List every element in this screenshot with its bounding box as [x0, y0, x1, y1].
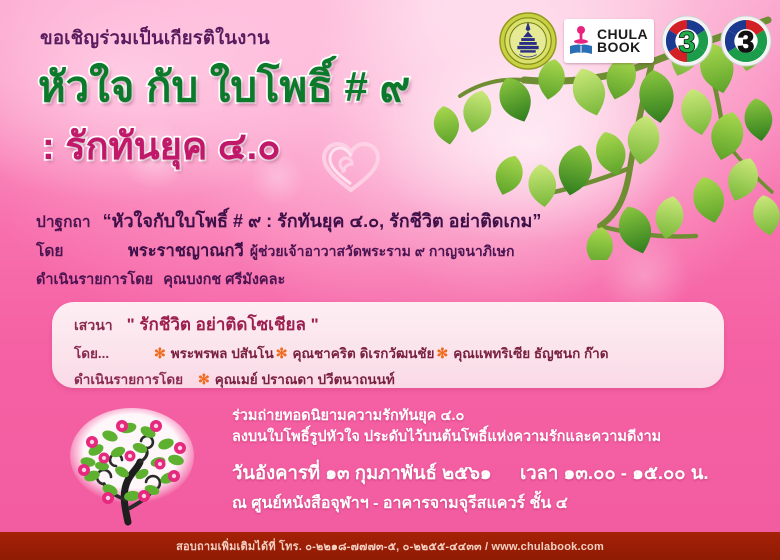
invite-headline: ขอเชิญร่วมเป็นเกียรติในงาน	[40, 24, 270, 53]
event-venue: ณ ศูนย์หนังสือจุฬาฯ - อาคารจามจุรีสแควร์…	[232, 491, 772, 516]
asterisk-bullet-icon: ✻	[436, 345, 448, 362]
event-time: เวลา ๑๓.๐๐ - ๑๕.๐๐ น.	[520, 462, 709, 483]
poster-title-subtitle: : รักทันยุค ๔.๐	[42, 128, 280, 166]
event-activity-line2: ลงบนใบโพธิ์รูปหัวใจ ประดับไว้บนต้นโพธิ์แ…	[232, 427, 772, 448]
lecture-section: ปาฐกถา “หัวใจกับใบโพธิ์ # ๙ : รักทันยุค …	[36, 206, 736, 291]
event-activity-line1: ร่วมถ่ายทอดนิยามความรักทันยุค ๔.๐	[232, 406, 772, 427]
panel-speaker-2: คุณชาคริต ดิเรกวัฒนชัย	[292, 342, 434, 364]
logo-strip: CHULA BOOK 3 3	[499, 10, 772, 72]
channel3-hd-number: 3	[738, 26, 755, 59]
chulabook-lamp-icon	[568, 24, 594, 58]
bodhi-tree-illustration	[52, 404, 212, 526]
lecture-speaker-name: พระราชญาณกวี	[128, 238, 244, 264]
lecture-title-row: ปาฐกถา “หัวใจกับใบโพธิ์ # ๙ : รักทันยุค …	[36, 206, 736, 235]
contact-footer-bar: สอบถามเพิ่มเติมได้ที่ โทร. ๐-๒๒๑๘-๗๗๗๓-๕…	[0, 532, 780, 560]
panel-label: เสวนา	[74, 315, 113, 337]
lecture-by-label: โดย	[36, 238, 128, 263]
event-details-section: ร่วมถ่ายทอดนิยามความรักทันยุค ๔.๐ ลงบนใบ…	[232, 406, 772, 516]
panel-mc-row: ดำเนินรายการโดย ✻ คุณเมย์ ปราณดา ปวีตนาถ…	[74, 368, 724, 390]
panel-speakers-row: โดย... ✻ พระพรพล ปสันโน ✻ คุณชาคริต ดิเร…	[74, 342, 724, 364]
heart-outline-icon	[320, 140, 382, 194]
channel3-number: 3	[679, 26, 696, 59]
event-date: วันอังคารที่ ๑๓ กุมภาพันธ์ ๒๕๖๑	[232, 462, 492, 483]
poster-title-main: หัวใจ กับ ใบโพธิ์ # ๙	[38, 66, 410, 108]
panel-mc-label: ดำเนินรายการโดย	[74, 368, 196, 390]
panel-by-label: โดย...	[74, 342, 152, 364]
event-datetime-row: วันอังคารที่ ๑๓ กุมภาพันธ์ ๒๕๖๑ เวลา ๑๓.…	[232, 459, 772, 488]
asterisk-bullet-icon: ✻	[198, 371, 210, 388]
panel-discussion-card: เสวนา " รักชีวิต อย่าติดโซเชียล " โดย...…	[52, 302, 724, 388]
chulalongkorn-seal-icon	[499, 12, 557, 70]
lecture-topic: “หัวใจกับใบโพธิ์ # ๙ : รักทันยุค ๔.๐, รั…	[103, 206, 542, 235]
panel-topic: " รักชีวิต อย่าติดโซเชียล "	[127, 311, 319, 338]
chulabook-label-line2: BOOK	[597, 41, 648, 54]
panel-topic-row: เสวนา " รักชีวิต อย่าติดโซเชียล "	[74, 311, 724, 338]
contact-info-text: สอบถามเพิ่มเติมได้ที่ โทร. ๐-๒๒๑๘-๗๗๗๓-๕…	[176, 537, 604, 555]
panel-mc-name: คุณเมย์ ปราณดา ปวีตนาถนนท์	[215, 368, 395, 390]
channel3-hd-logo-icon: 3	[720, 15, 772, 67]
panel-speaker-3: คุณแพทริเซีย ธัญชนก ก๊าด	[453, 342, 608, 364]
lecture-speaker-row: โดย พระราชญาณกวี ผู้ช่วยเจ้าอาวาสวัดพระร…	[36, 238, 736, 264]
event-poster: CHULA BOOK 3 3 ขอเชิญร่วม	[0, 0, 780, 560]
lecture-mc-name: คุณบงกช ศรีมังคละ	[163, 268, 285, 291]
lecture-speaker-title: ผู้ช่วยเจ้าอาวาสวัดพระราม ๙ กาญจนาภิเษก	[250, 241, 515, 263]
asterisk-bullet-icon: ✻	[154, 345, 166, 362]
lecture-mc-row: ดำเนินรายการโดย คุณบงกช ศรีมังคละ	[36, 268, 736, 291]
lecture-mc-label: ดำเนินรายการโดย	[36, 268, 153, 291]
channel3-logo-icon: 3	[661, 15, 713, 67]
chulabook-logo: CHULA BOOK	[564, 19, 654, 63]
asterisk-bullet-icon: ✻	[276, 345, 288, 362]
lecture-label: ปาฐกถา	[36, 209, 91, 234]
panel-speaker-1: พระพรพล ปสันโน	[171, 342, 274, 364]
